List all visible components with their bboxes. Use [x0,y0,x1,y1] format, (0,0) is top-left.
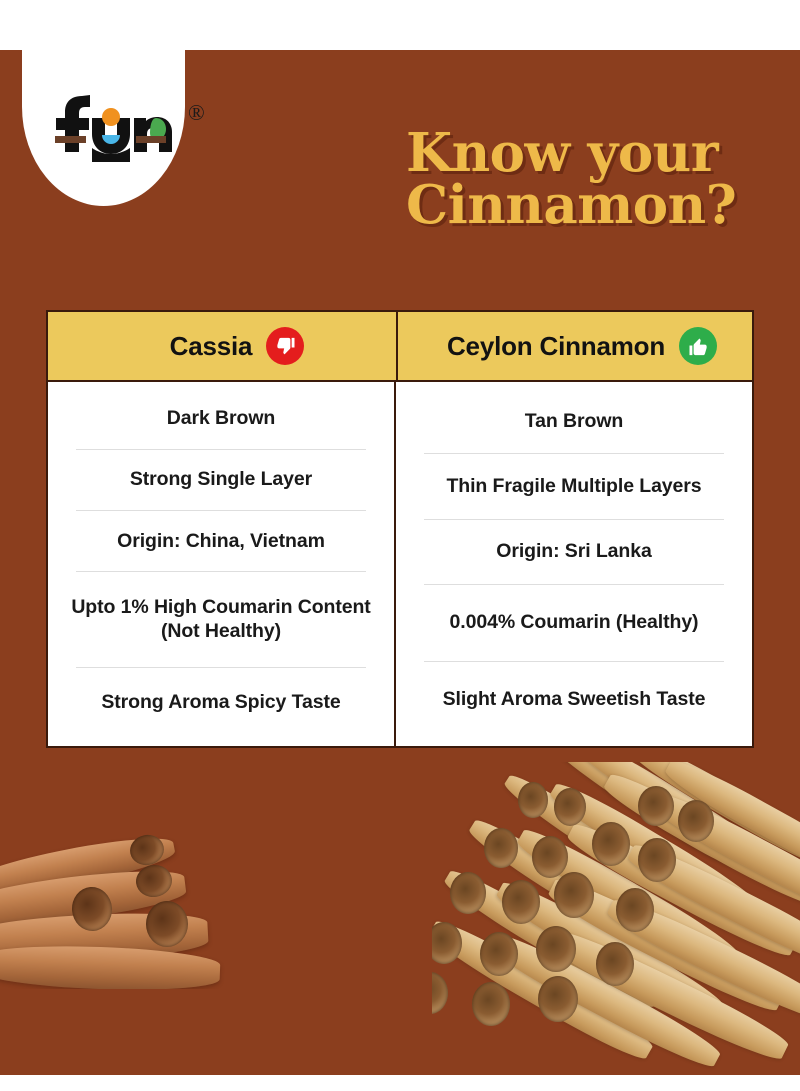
table-row: 0.004% Coumarin (Healthy) [396,584,752,661]
poster-canvas: ® Know your Cinnamon? Cassia Ceylon Cinn… [0,0,800,1091]
ceylon-cinnamon-quills-photo [432,762,800,1075]
table-column-ceylon: Tan Brown Thin Fragile Multiple Layers O… [396,382,752,746]
fyn-leaf-logo-icon [52,88,172,162]
column-label-cassia: Cassia [170,331,253,362]
page-title-line-1: Know your [406,128,766,180]
table-row: Tan Brown [396,388,752,453]
table-row: Upto 1% High Coumarin Content (Not Healt… [48,571,394,667]
table-row: Strong Single Layer [48,449,394,510]
table-row: Origin: China, Vietnam [48,510,394,571]
table-row: Dark Brown [48,388,394,449]
bottom-white-strip [0,1075,800,1091]
table-row: Thin Fragile Multiple Layers [396,453,752,518]
table-body: Dark Brown Strong Single Layer Origin: C… [48,382,752,746]
thumbs-down-icon [266,327,304,365]
cassia-cinnamon-sticks-photo [0,815,232,989]
table-column-cassia: Dark Brown Strong Single Layer Origin: C… [48,382,396,746]
table-header-ceylon: Ceylon Cinnamon [398,312,752,380]
page-title-line-2: Cinnamon? [406,180,766,232]
brand-logo-badge: ® [22,0,185,206]
table-header-row: Cassia Ceylon Cinnamon [48,312,752,382]
column-label-ceylon-cinnamon: Ceylon Cinnamon [447,331,665,362]
page-title: Know your Cinnamon? [406,128,766,232]
table-header-cassia: Cassia [48,312,398,380]
thumbs-up-icon [679,327,717,365]
registered-trademark-symbol: ® [188,102,205,124]
table-row: Strong Aroma Spicy Taste [48,667,394,738]
table-row: Slight Aroma Sweetish Taste [396,661,752,738]
table-row: Origin: Sri Lanka [396,519,752,584]
comparison-table: Cassia Ceylon Cinnamon Dark Brown [46,310,754,748]
